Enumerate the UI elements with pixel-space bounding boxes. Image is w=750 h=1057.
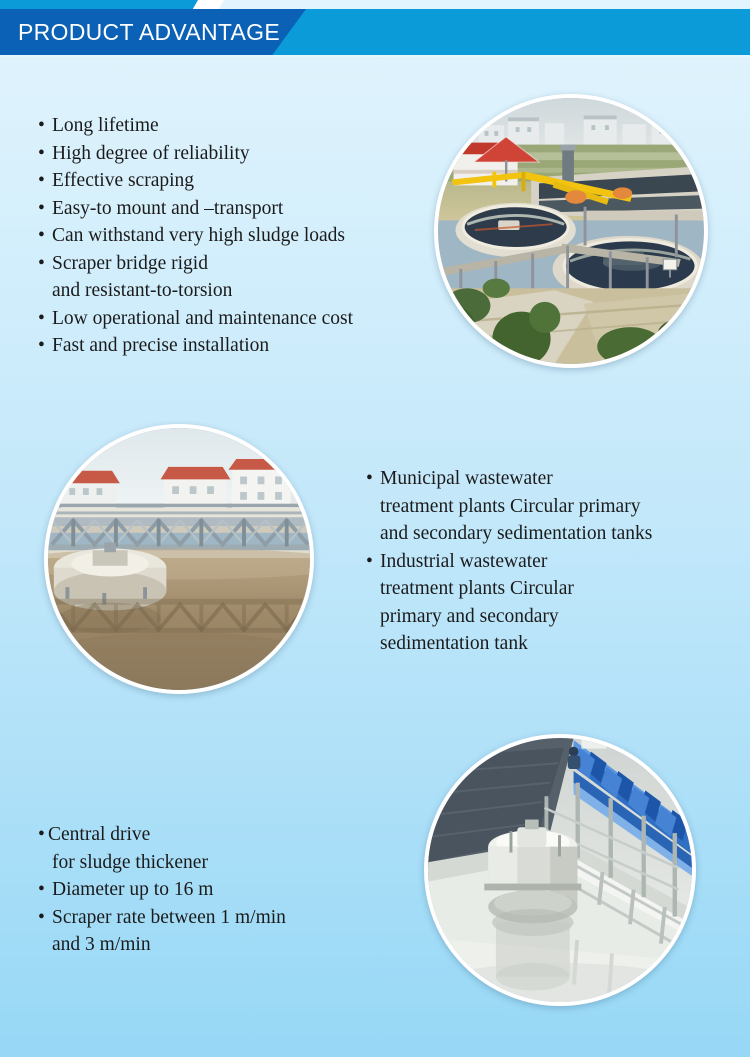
bullet-marker: • (38, 112, 52, 140)
list-item-text: Industrial wastewater (380, 551, 547, 572)
bullet-marker: • (38, 195, 52, 223)
list-item-continuation: treatment plants Circular (366, 575, 652, 603)
list-item-text: and 3 m/min (52, 934, 151, 955)
bullet-marker: • (38, 305, 52, 333)
page-title: PRODUCT ADVANTAGE (18, 9, 280, 55)
specifications-list: •Central drive for sludge thickener •Dia… (38, 821, 286, 959)
list-item-text: Central drive (48, 824, 150, 845)
list-item-text: Scraper bridge rigid (52, 253, 208, 274)
header-top-strip-notch (193, 0, 224, 9)
list-item-text: Can withstand very high sludge loads (52, 225, 345, 246)
list-item-text: treatment plants Circular (380, 578, 574, 599)
list-item: •Diameter up to 16 m (38, 876, 286, 904)
list-item: •Scraper rate between 1 m/min (38, 904, 286, 932)
bullet-marker: • (366, 548, 380, 576)
bullet-marker: • (38, 821, 48, 849)
scraper-bridge-illustration (48, 428, 310, 690)
page-header: PRODUCT ADVANTAGE (0, 0, 750, 56)
list-item: •Industrial wastewater (366, 548, 652, 576)
list-item-text: and secondary sedimentation tanks (380, 523, 652, 544)
list-item-text: primary and secondary (380, 606, 559, 627)
list-item: •Central drive (38, 821, 286, 849)
header-top-strip (0, 0, 215, 9)
list-item: •Effective scraping (38, 167, 353, 195)
bullet-marker: • (38, 332, 52, 360)
bullet-marker: • (38, 140, 52, 168)
list-item: •Can withstand very high sludge loads (38, 222, 353, 250)
list-item: •Municipal wastewater (366, 465, 652, 493)
list-item-text: treatment plants Circular primary (380, 496, 640, 517)
bullet-marker: • (38, 904, 52, 932)
bullet-marker: • (38, 876, 52, 904)
list-item-text: Long lifetime (52, 115, 159, 136)
list-item: •Low operational and maintenance cost (38, 305, 353, 333)
list-item: •Scraper bridge rigid (38, 250, 353, 278)
list-item-continuation: sedimentation tank (366, 630, 652, 658)
scraper-bridge-sedimentation-tank-photo (44, 424, 314, 694)
plant-aerial-illustration (438, 98, 704, 364)
list-item-continuation: and 3 m/min (38, 931, 286, 959)
list-item-text: Low operational and maintenance cost (52, 308, 353, 329)
list-item-text: and resistant-to-torsion (52, 280, 232, 301)
advantages-list: •Long lifetime •High degree of reliabili… (38, 112, 353, 360)
applications-list: •Municipal wastewater treatment plants C… (366, 465, 652, 658)
list-item-continuation: and secondary sedimentation tanks (366, 520, 652, 548)
bullet-marker: • (38, 167, 52, 195)
list-item: •Easy-to mount and –transport (38, 195, 353, 223)
list-item-text: Effective scraping (52, 170, 194, 191)
list-item-continuation: and resistant-to-torsion (38, 277, 353, 305)
product-advantage-page: PRODUCT ADVANTAGE •Long lifetime •High d… (0, 0, 750, 1057)
header-underline (0, 55, 750, 57)
central-drive-sludge-thickener-photo (424, 734, 696, 1006)
list-item-text: sedimentation tank (380, 633, 528, 654)
central-drive-illustration (428, 738, 692, 1002)
list-item-continuation: treatment plants Circular primary (366, 493, 652, 521)
bullet-marker: • (366, 465, 380, 493)
list-item-text: Easy-to mount and –transport (52, 198, 283, 219)
list-item: •Long lifetime (38, 112, 353, 140)
list-item-text: Scraper rate between 1 m/min (52, 907, 286, 928)
list-item-text: Fast and precise installation (52, 335, 269, 356)
wastewater-treatment-plant-aerial-photo (434, 94, 708, 368)
list-item-text: Municipal wastewater (380, 468, 553, 489)
bullet-marker: • (38, 222, 52, 250)
list-item-text: High degree of reliability (52, 143, 250, 164)
list-item-text: for sludge thickener (52, 852, 208, 873)
bullet-marker: • (38, 250, 52, 278)
list-item-continuation: for sludge thickener (38, 849, 286, 877)
list-item-text: Diameter up to 16 m (52, 879, 213, 900)
list-item: •High degree of reliability (38, 140, 353, 168)
list-item-continuation: primary and secondary (366, 603, 652, 631)
list-item: •Fast and precise installation (38, 332, 353, 360)
